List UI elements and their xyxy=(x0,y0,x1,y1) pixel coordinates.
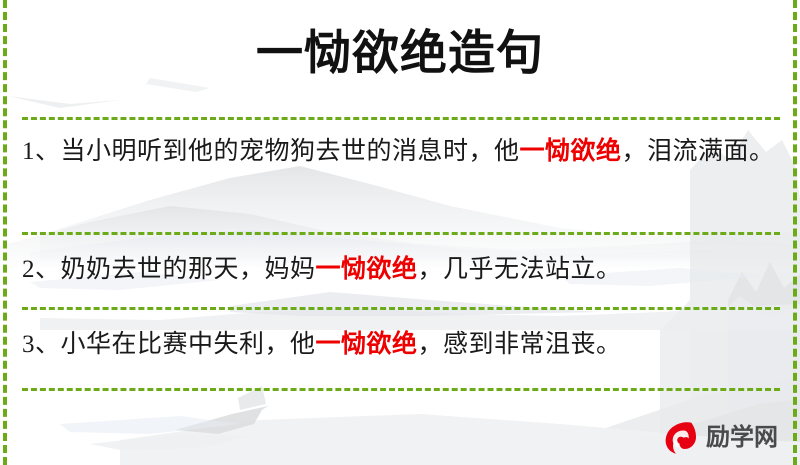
site-watermark-logo: 励学网 xyxy=(660,414,782,460)
sentence-item-2: 2、奶奶去世的那天，妈妈一恸欲绝，几乎无法站立。 xyxy=(22,251,778,289)
sentence-item-3: 3、小华在比赛中失利，他一恸欲绝，感到非常沮丧。 xyxy=(22,326,778,364)
sentence-text-before-2: 奶奶去世的那天，妈妈 xyxy=(61,256,316,283)
sentence-text-after-2: ，几乎无法站立。 xyxy=(418,256,622,283)
sentence-text-before-1: 当小明听到他的宠物狗去世的消息时，他 xyxy=(61,138,520,165)
flame-swirl-icon xyxy=(660,417,700,457)
sentence-number-2: 2、 xyxy=(22,256,61,283)
highlight-phrase-3: 一恸欲绝 xyxy=(316,331,418,358)
page-title: 一恸欲绝造句 xyxy=(0,24,800,84)
brand-name: 励学网 xyxy=(706,417,778,457)
divider-sentence-1 xyxy=(22,232,780,235)
highlight-phrase-2: 一恸欲绝 xyxy=(316,256,418,283)
highlight-phrase-1: 一恸欲绝 xyxy=(520,138,622,165)
sentence-number-3: 3、 xyxy=(22,331,61,358)
divider-sentence-3 xyxy=(22,388,780,391)
divider-sentence-2 xyxy=(22,307,780,310)
sentence-text-after-1: ，泪流满面。 xyxy=(622,138,775,165)
sentence-text-after-3: ，感到非常沮丧。 xyxy=(418,331,622,358)
sentence-item-1: 1、当小明听到他的宠物狗去世的消息时，他一恸欲绝，泪流满面。 xyxy=(22,133,778,171)
divider-title xyxy=(22,117,780,120)
sentence-text-before-3: 小华在比赛中失利，他 xyxy=(61,331,316,358)
sentence-number-1: 1、 xyxy=(22,138,61,165)
worksheet-page: 一恸欲绝造句 1、当小明听到他的宠物狗去世的消息时，他一恸欲绝，泪流满面。 2、… xyxy=(0,0,800,465)
